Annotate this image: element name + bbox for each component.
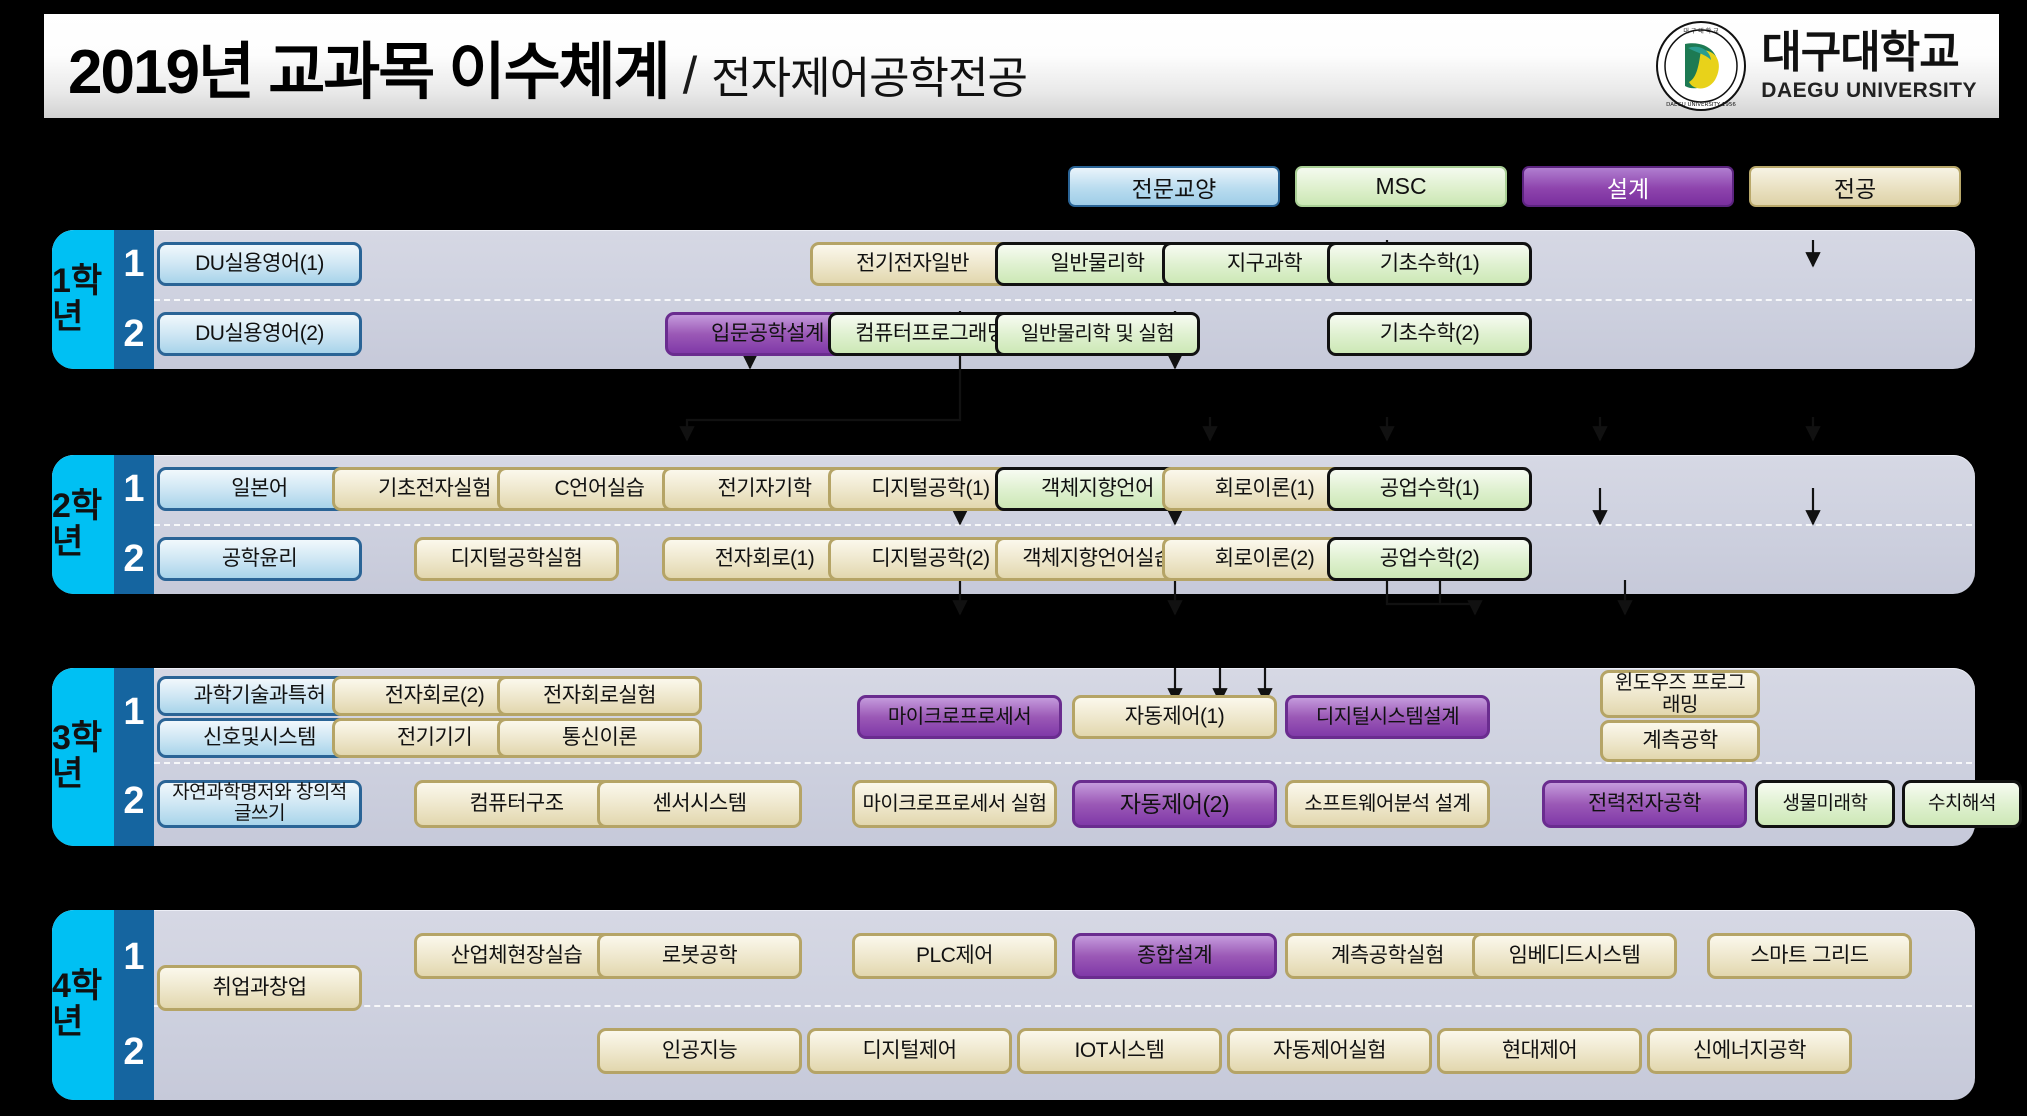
course-engineering-math-2[interactable]: 공업수학(2) (1327, 537, 1532, 581)
year-block-4: 4학년 1 2 취업과창업 산업체현장실습 로봇공학 PLC제어 종합설계 계측… (52, 910, 1975, 1100)
year-1-semester-1: 1 (114, 230, 154, 300)
course-communication-theory[interactable]: 통신이론 (497, 718, 702, 758)
course-digital-system-design[interactable]: 디지털시스템설계 (1285, 695, 1490, 739)
course-general-physics-lab[interactable]: 일반물리학 및 실험 (995, 312, 1200, 356)
course-biological-future-studies[interactable]: 생물미래학 (1755, 780, 1895, 828)
svg-text:DAEGU UNIVERSITY 1956: DAEGU UNIVERSITY 1956 (1666, 102, 1736, 108)
course-du-practical-english-2[interactable]: DU실용영어(2) (157, 312, 362, 356)
year-3-semester-1: 1 (114, 668, 154, 757)
course-plc-control[interactable]: PLC제어 (852, 933, 1057, 979)
legend-item-msc: MSC (1295, 166, 1507, 207)
logo-name-ko: 대구대학교 (1761, 31, 1958, 75)
course-numerical-analysis[interactable]: 수치해석 (1902, 780, 2022, 828)
year-1-semester-column: 1 2 (114, 230, 154, 369)
year-4-semester-1: 1 (114, 910, 154, 1005)
course-digital-control[interactable]: 디지털제어 (807, 1028, 1012, 1074)
year-4-label: 4학년 (52, 910, 114, 1100)
course-instrumentation-engineering[interactable]: 계측공학 (1600, 720, 1760, 762)
legend: 전문교양 MSC 설계 전공 (1068, 166, 1961, 207)
course-modern-control[interactable]: 현대제어 (1437, 1028, 1642, 1074)
course-natural-science-writing[interactable]: 자연과학명저와 창의적 글쓰기 (157, 780, 362, 828)
course-automatic-control-lab[interactable]: 자동제어실험 (1227, 1028, 1432, 1074)
logo-text: 대구대학교 DAEGU UNIVERSITY (1761, 31, 1977, 101)
page-title: 2019년 교과목 이수체계 (68, 21, 669, 111)
year-2-semester-1: 1 (114, 455, 154, 525)
course-engineering-ethics[interactable]: 공학윤리 (157, 537, 362, 581)
course-iot-systems[interactable]: IOT시스템 (1017, 1028, 1222, 1074)
page-subtitle: 전자제어공학전공 (711, 42, 1027, 106)
course-electronic-circuits-lab[interactable]: 전자회로실험 (497, 676, 702, 716)
title-separator: / (683, 46, 697, 106)
course-basic-math-1[interactable]: 기초수학(1) (1327, 242, 1532, 286)
course-smart-grid[interactable]: 스마트 그리드 (1707, 933, 1912, 979)
course-microprocessor-lab[interactable]: 마이크로프로세서 실험 (852, 780, 1057, 828)
year-3-semester-column: 1 2 (114, 668, 154, 846)
svg-text:대 구 대 학 교: 대 구 대 학 교 (1684, 27, 1720, 35)
course-employment-startup[interactable]: 취업과창업 (157, 965, 362, 1011)
year-block-1: 1학년 1 2 DU실용영어(1) 전기전자일반 일반물리학 지구과학 기초수학… (52, 230, 1975, 369)
course-digital-engineering-lab[interactable]: 디지털공학실험 (414, 537, 619, 581)
logo-name-en: DAEGU UNIVERSITY (1761, 80, 1977, 101)
year-3-label: 3학년 (52, 668, 114, 846)
course-sensor-systems[interactable]: 센서시스템 (597, 780, 802, 828)
course-du-practical-english-1[interactable]: DU실용영어(1) (157, 242, 362, 286)
course-microprocessor[interactable]: 마이크로프로세서 (857, 695, 1062, 739)
year-4-semester-2: 2 (114, 1005, 154, 1100)
course-automatic-control-1[interactable]: 자동제어(1) (1072, 695, 1277, 739)
year-3-semester-2: 2 (114, 757, 154, 846)
course-computer-architecture[interactable]: 컴퓨터구조 (414, 780, 619, 828)
daegu-university-seal-icon: 대 구 대 학 교 DAEGU UNIVERSITY 1956 (1655, 20, 1747, 112)
course-automatic-control-2[interactable]: 자동제어(2) (1072, 780, 1277, 828)
legend-item-design: 설계 (1522, 166, 1734, 207)
course-new-energy-engineering[interactable]: 신에너지공학 (1647, 1028, 1852, 1074)
year-block-3: 3학년 1 2 과학기술과특허 전자회로(2) 전자회로실험 신호및시스템 전기… (52, 668, 1975, 846)
year-2-semester-column: 1 2 (114, 455, 154, 594)
page-header: 2019년 교과목 이수체계 / 전자제어공학전공 대 구 대 학 교 DAEG… (44, 14, 1999, 118)
course-power-electronics[interactable]: 전력전자공학 (1542, 780, 1747, 828)
course-software-analysis-design[interactable]: 소프트웨어분석 설계 (1285, 780, 1490, 828)
year-block-2: 2학년 1 2 일본어 기초전자실험 C언어실습 전기자기학 디지털공학(1) … (52, 455, 1975, 594)
legend-item-gyoyang: 전문교양 (1068, 166, 1280, 207)
year-4-semester-column: 1 2 (114, 910, 154, 1100)
year-2-semester-2: 2 (114, 525, 154, 595)
course-capstone-design[interactable]: 종합설계 (1072, 933, 1277, 979)
legend-item-major: 전공 (1749, 166, 1961, 207)
year-1-label: 1학년 (52, 230, 114, 369)
course-windows-programming[interactable]: 윈도우즈 프로그래밍 (1600, 670, 1760, 718)
course-industry-field-training[interactable]: 산업체현장실습 (414, 933, 619, 979)
course-engineering-math-1[interactable]: 공업수학(1) (1327, 467, 1532, 511)
course-artificial-intelligence[interactable]: 인공지능 (597, 1028, 802, 1074)
title-wrap: 2019년 교과목 이수체계 / 전자제어공학전공 (44, 21, 1027, 111)
course-embedded-systems[interactable]: 임베디드시스템 (1472, 933, 1677, 979)
course-electrical-electronics-general[interactable]: 전기전자일반 (810, 242, 1015, 286)
university-logo: 대 구 대 학 교 DAEGU UNIVERSITY 1956 대구대학교 DA… (1655, 20, 1999, 112)
course-robotics[interactable]: 로봇공학 (597, 933, 802, 979)
course-basic-math-2[interactable]: 기초수학(2) (1327, 312, 1532, 356)
year-2-label: 2학년 (52, 455, 114, 594)
course-instrumentation-lab[interactable]: 계측공학실험 (1285, 933, 1490, 979)
year-1-semester-2: 2 (114, 300, 154, 370)
